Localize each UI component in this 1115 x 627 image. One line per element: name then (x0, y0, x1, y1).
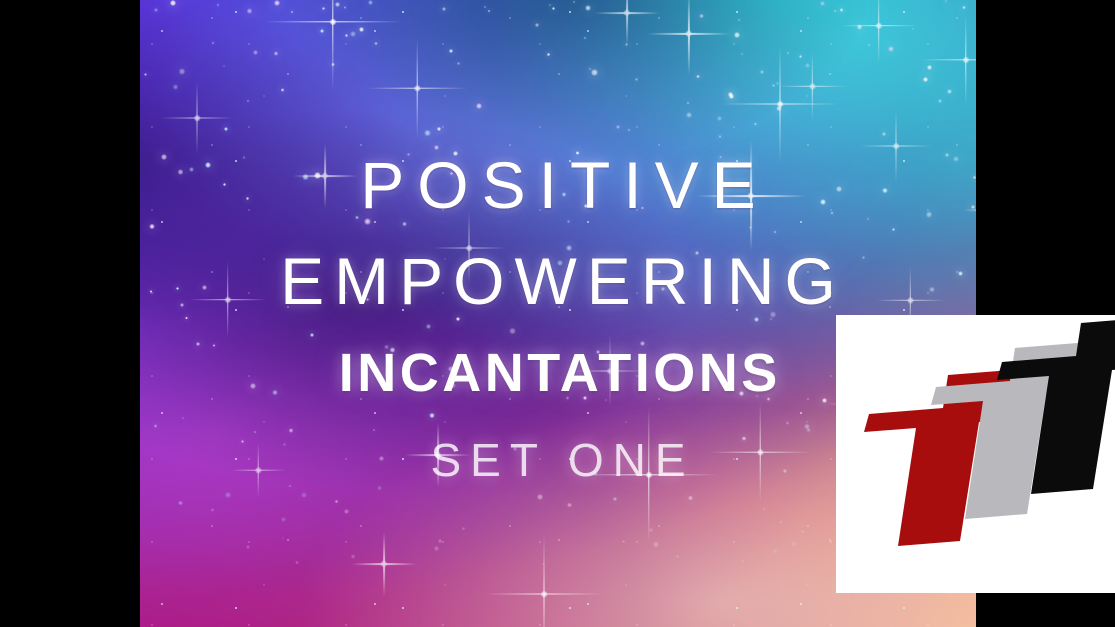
triple-t-logo-icon (836, 315, 1115, 593)
logo-watermark-panel (836, 315, 1115, 593)
letterbox-bar-left (0, 0, 140, 627)
headline-line-empowering: EMPOWERING (140, 248, 976, 314)
video-frame-stage: POSITIVE EMPOWERING INCANTATIONS SET ONE (0, 0, 1115, 627)
headline-line-positive: POSITIVE (140, 152, 976, 218)
